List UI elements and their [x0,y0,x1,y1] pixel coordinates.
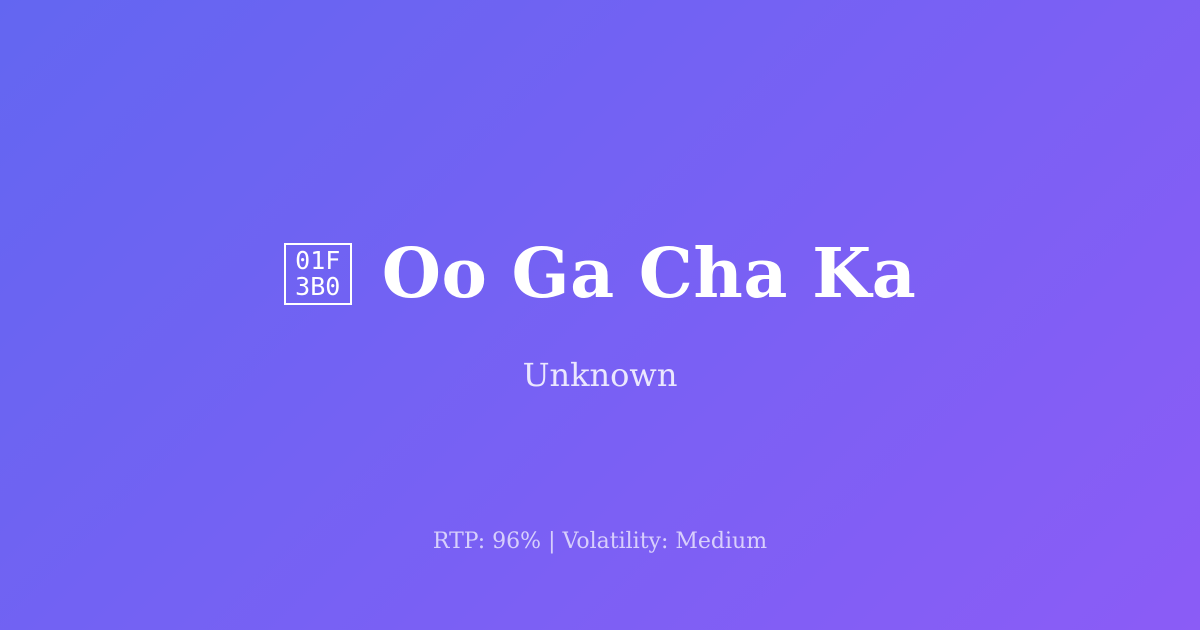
provider-subtitle: Unknown [523,356,678,394]
slot-machine-icon: 01F 3B0 [284,243,352,305]
slot-machine-icon-codepoint-top: 01F [295,248,340,274]
title-row: 01F 3B0 Oo Ga Cha Ka [284,228,917,320]
game-meta-line: RTP: 96% | Volatility: Medium [433,529,767,554]
footer: RTP: 96% | Volatility: Medium [0,528,1200,556]
page-title: Oo Ga Cha Ka [382,236,917,312]
slot-machine-icon-codepoint-bottom: 3B0 [295,274,340,300]
hero-block: 01F 3B0 Oo Ga Cha Ka Unknown [0,228,1200,394]
game-info-card: 01F 3B0 Oo Ga Cha Ka Unknown RTP: 96% | … [0,0,1200,630]
